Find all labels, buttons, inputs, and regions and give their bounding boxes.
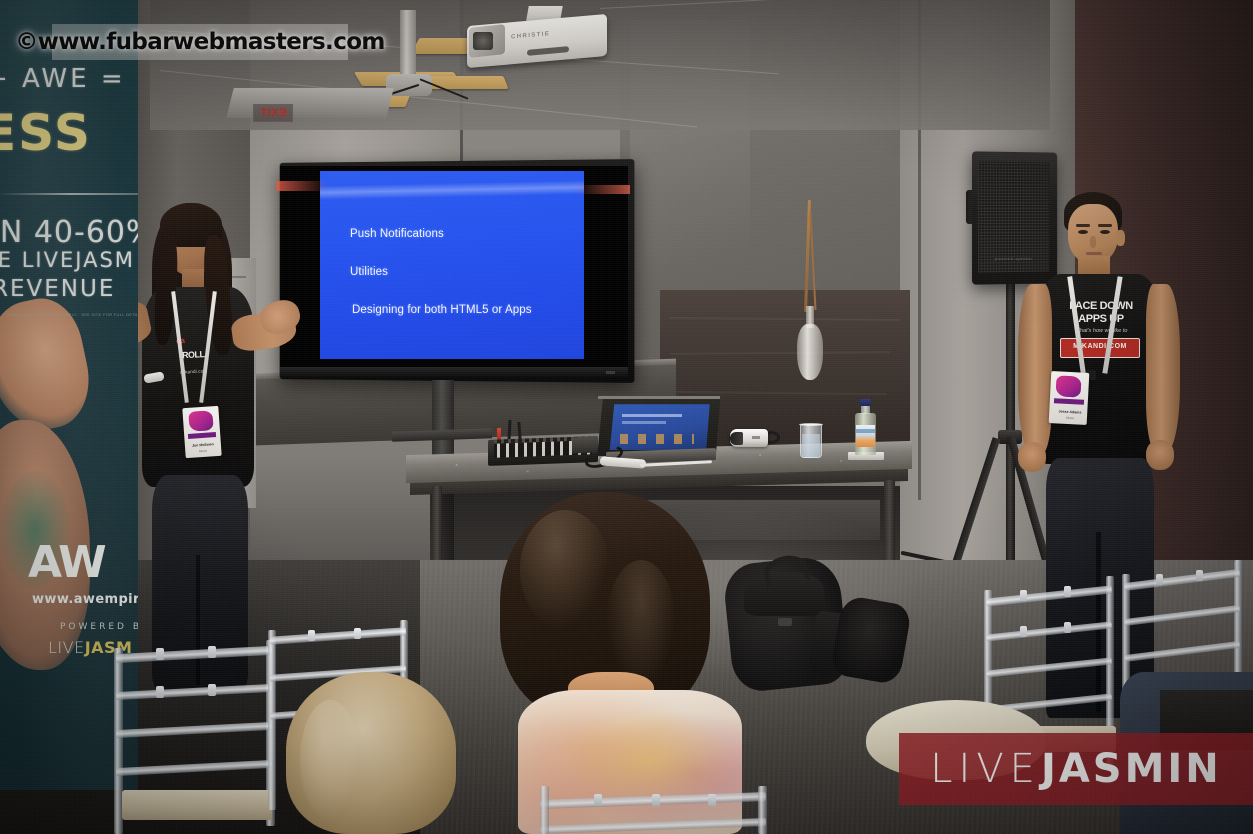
banner-headline-awe: + AWE = [0, 64, 126, 94]
eye [1078, 230, 1088, 234]
chair-seat-cushion [122, 790, 272, 820]
chair-rung [1124, 605, 1240, 626]
photographer-watermark: ©www.fubarwebmasters.com [52, 24, 348, 60]
hair-highlight [300, 700, 360, 820]
hair-highlight [520, 510, 610, 630]
chair-bead [156, 648, 164, 660]
chair-bead [156, 686, 164, 698]
banner-lj-light-part: LIVE [48, 638, 85, 657]
chair-bead [208, 646, 216, 658]
laptop-screen-text-line [622, 421, 666, 424]
chair-rung [116, 646, 272, 663]
tshirt-tagline: That's how we like to [1054, 328, 1150, 334]
presentation-display[interactable]: Push Notifications Utilities Designing f… [276, 161, 632, 381]
screen-edge-flare [276, 181, 328, 191]
chair-rung [1124, 569, 1240, 591]
vr-headset[interactable] [730, 427, 778, 448]
livejasmin-live-text: LIVE [930, 746, 1041, 792]
laptop-screen-text-line [622, 414, 682, 417]
chair-bead [652, 794, 660, 806]
banner-divider [0, 193, 138, 195]
chiavari-chair[interactable] [540, 786, 770, 834]
banner-line-percent: RN 40-60% [0, 215, 138, 250]
backpack-buckle [778, 618, 792, 626]
chair-rung [986, 621, 1112, 641]
chair-rung [986, 657, 1112, 677]
projector-lens-glass [473, 32, 493, 50]
awempire-logo: AW [28, 540, 138, 586]
badge-logo-icon [188, 410, 213, 432]
chair-rung [270, 627, 406, 644]
juice-bottle[interactable] [855, 399, 876, 455]
fan-downrod [400, 10, 416, 82]
livejasmin-wordmark: LIVEJASMIN [930, 749, 1222, 789]
chair-rung [116, 722, 272, 738]
chair-bead [208, 684, 216, 696]
nose [1090, 236, 1096, 248]
tshirt-text-line-1: FACE DOWN [1056, 300, 1146, 312]
screen-edge-flare [576, 185, 630, 194]
slide-canvas: Push Notifications Utilities Designing f… [320, 171, 584, 359]
exit-sign-text: EXIT [260, 107, 286, 119]
vr-brand-badge [752, 436, 760, 439]
ceiling-mount-plate [226, 88, 393, 118]
livejasmin-jasmin-text: JASMIN [1041, 746, 1222, 792]
ceiling-projector: CHRISTIE [467, 6, 607, 64]
bottle-label-band [856, 429, 875, 433]
chair-post [268, 630, 276, 810]
vr-face-pad [730, 432, 743, 445]
livejasmin-overlay-banner: LIVEJASMIN [899, 733, 1253, 805]
banner-url: www.awempire [32, 592, 138, 607]
face [1068, 204, 1118, 264]
tv-brand-badge [606, 371, 615, 374]
arm-right [1146, 284, 1180, 452]
water-level [802, 434, 820, 457]
banner-fineprint: TERMS AND CONDITIONS APPLY · SEE SITE FO… [6, 312, 136, 317]
mouth [1086, 252, 1102, 255]
arm-left [1018, 284, 1052, 454]
chair-rung [116, 684, 272, 700]
eyebrow [1098, 224, 1112, 227]
screen-glare [320, 180, 584, 200]
hand-left [1018, 442, 1046, 472]
chair-rung [116, 760, 272, 776]
laptop-screen-icon-row [620, 434, 694, 444]
chair-bead [1064, 622, 1071, 633]
chair-bead [1020, 626, 1027, 637]
eye [1100, 230, 1110, 234]
decorative-vase [797, 324, 823, 380]
awempire-logo-text: AW [28, 537, 105, 588]
chair-bead [1156, 574, 1163, 585]
bottle-cap [860, 399, 871, 406]
chair-bead [354, 628, 361, 639]
exit-sign: EXIT [253, 104, 293, 122]
chair-bead [1196, 570, 1203, 581]
glass-rim [799, 423, 823, 426]
chair-rung [986, 585, 1112, 606]
tshirt-text-line-2: APPS UP [1056, 313, 1146, 325]
chair-bead [308, 630, 315, 641]
chair-bead [1064, 586, 1071, 597]
banner-powered-by: POWERED BY [60, 622, 138, 632]
tshirt-logo-text: MIKANDI.COM [1060, 343, 1140, 350]
chair-rung [540, 818, 766, 834]
watermark-text: ©www.fubarwebmasters.com [15, 29, 385, 55]
hand-right [1146, 440, 1174, 470]
slide-bullet-designing-html5-apps: Designing for both HTML5 or Apps [352, 304, 532, 316]
chair-bead [708, 794, 716, 806]
banner-line-revenue: REVENUE [0, 276, 115, 302]
chiavari-chair[interactable] [112, 640, 292, 834]
ear [1116, 230, 1125, 246]
banner-headline-ess: ESS [0, 104, 92, 162]
slide-bullet-utilities: Utilities [350, 266, 388, 278]
hair-highlight [606, 560, 676, 690]
slide-bullet-push-notifications: Push Notifications [350, 228, 444, 240]
chair-rung [1124, 641, 1240, 662]
chair-bead [1020, 590, 1027, 601]
laptop-hinge [598, 396, 720, 399]
eyebrow [1076, 224, 1090, 227]
chair-post [758, 786, 767, 834]
conference-photo-scene: CHRISTIE EXIT Push Notifications Utiliti… [0, 0, 1253, 834]
chair-post [540, 786, 549, 834]
banner-line-livejasmin: HE LIVEJASM [0, 248, 135, 272]
chair-bead [594, 794, 602, 806]
badge-logo-icon [1055, 375, 1081, 397]
tv-bottom-bezel [280, 367, 628, 377]
